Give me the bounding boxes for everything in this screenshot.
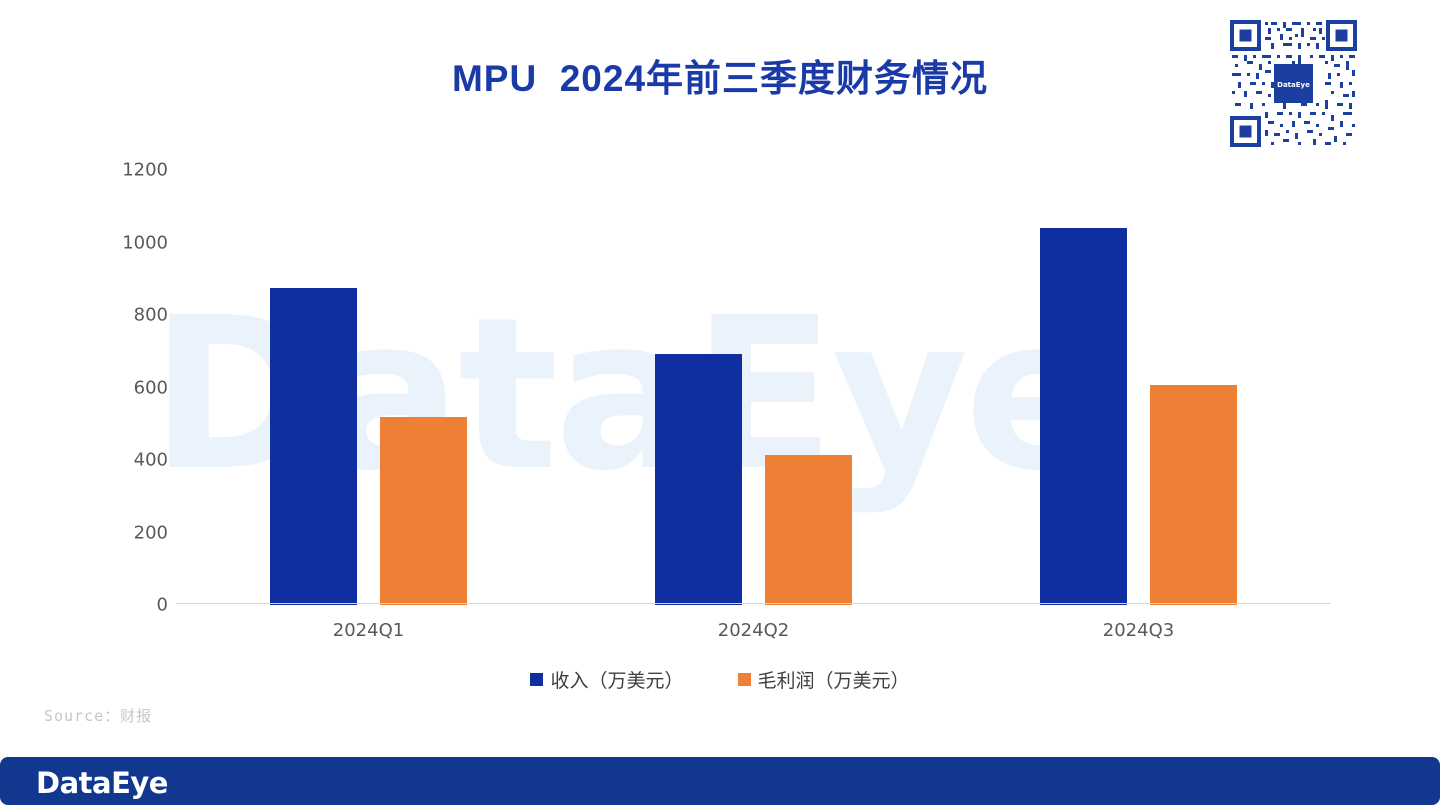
x-axis-line [176, 603, 1331, 604]
y-axis-tick-label: 800 [88, 305, 168, 326]
legend-label: 毛利润（万美元） [758, 666, 910, 693]
legend-item-profit[interactable]: 毛利润（万美元） [738, 666, 910, 693]
legend-swatch-icon [530, 673, 543, 686]
bar-2024Q3-revenue[interactable] [1040, 228, 1127, 605]
legend-swatch-icon [738, 673, 751, 686]
footer-bar: DataEye [0, 757, 1440, 805]
bar-2024Q1-profit[interactable] [380, 417, 467, 606]
y-axis-tick-label: 0 [88, 595, 168, 616]
chart-legend: 收入（万美元）毛利润（万美元） [0, 666, 1440, 693]
x-axis-tick-label: 2024Q3 [1019, 620, 1259, 641]
page-title: MPU 2024年前三季度财务情况 [0, 48, 1440, 102]
y-axis-tick-label: 200 [88, 522, 168, 543]
y-axis-tick-label: 1000 [88, 232, 168, 253]
y-axis-tick-label: 400 [88, 450, 168, 471]
legend-item-revenue[interactable]: 收入（万美元） [530, 666, 683, 693]
bar-2024Q3-profit[interactable] [1150, 385, 1237, 605]
x-axis-tick-label: 2024Q1 [249, 620, 489, 641]
x-axis-tick-label: 2024Q2 [634, 620, 874, 641]
dataeye-qr-code[interactable]: DataEye [1226, 16, 1361, 151]
y-axis: 020040060080010001200 [88, 170, 168, 605]
x-axis: 2024Q12024Q22024Q3 [176, 620, 1331, 646]
qr-center-label: DataEye [1277, 81, 1310, 89]
bar-2024Q2-revenue[interactable] [655, 354, 742, 605]
y-axis-tick-label: 1200 [88, 160, 168, 181]
source-note: Source：财报 [44, 705, 152, 726]
dataeye-logo: DataEye [36, 766, 168, 800]
bar-2024Q2-profit[interactable] [765, 455, 852, 605]
legend-label: 收入（万美元） [550, 666, 683, 693]
plot-area [176, 170, 1331, 605]
y-axis-tick-label: 600 [88, 377, 168, 398]
bar-2024Q1-revenue[interactable] [270, 288, 357, 605]
